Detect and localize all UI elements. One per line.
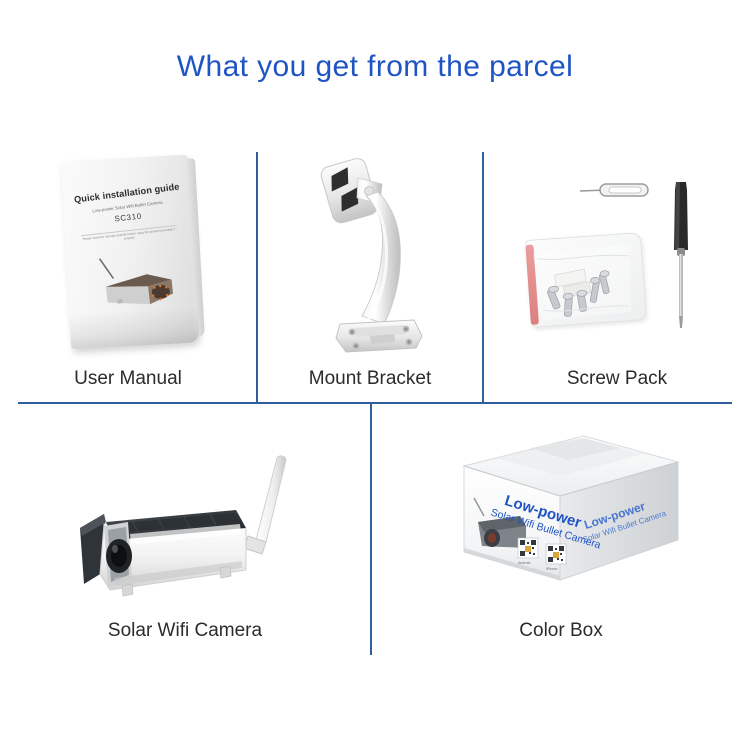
item-label-mount-bracket: Mount Bracket <box>258 368 482 390</box>
screw-bag <box>525 232 647 328</box>
cell-screw-pack: Screw Pack <box>484 150 750 400</box>
cell-user-manual: Quick installation guide Low-power Solar… <box>0 150 256 400</box>
item-label-user-manual: User Manual <box>0 368 256 390</box>
cell-mount-bracket: Mount Bracket <box>258 150 482 400</box>
qr-caption-right: iPhone <box>546 567 557 571</box>
cell-solar-wifi-camera: Solar Wifi Camera <box>0 404 370 656</box>
eject-pin-icon <box>580 182 654 198</box>
cell-color-box: Low-power Solar Wifi Bullet Camera <box>372 404 750 656</box>
item-label-solar-wifi-camera: Solar Wifi Camera <box>0 620 370 642</box>
qr-code-right <box>546 544 566 564</box>
page-title: What you get from the parcel <box>0 50 750 84</box>
screwdriver-icon <box>668 178 694 330</box>
parcel-contents-infographic: What you get from the parcel Quick insta… <box>0 0 750 750</box>
qr-code-left <box>518 538 538 558</box>
item-label-color-box: Color Box <box>372 620 750 642</box>
qr-caption-left: Android <box>518 561 530 565</box>
item-label-screw-pack: Screw Pack <box>484 368 750 390</box>
